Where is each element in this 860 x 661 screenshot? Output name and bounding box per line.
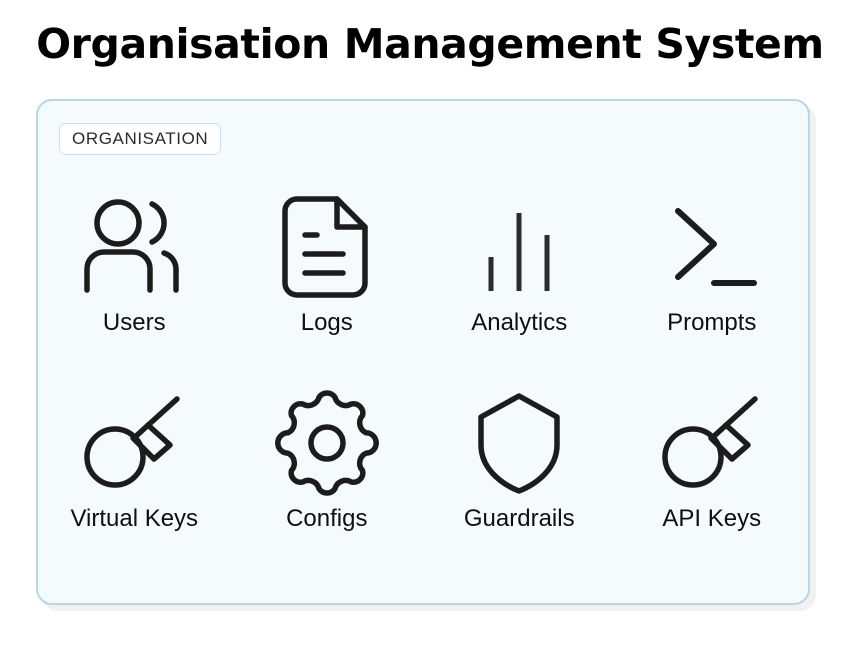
tile-label: Configs bbox=[286, 507, 367, 531]
gear-icon bbox=[272, 391, 382, 495]
bar-chart-icon bbox=[464, 195, 574, 299]
tile-label: Analytics bbox=[471, 311, 567, 335]
tile-analytics: Analytics bbox=[423, 187, 616, 383]
tile-logs[interactable]: Logs bbox=[231, 187, 424, 383]
status-badge: ORGANISATION bbox=[59, 123, 221, 155]
tile-virtual-keys[interactable]: Virtual Keys bbox=[38, 383, 231, 579]
tile-label: API Keys bbox=[662, 507, 761, 531]
key-icon bbox=[657, 391, 767, 495]
tile-label: Virtual Keys bbox=[70, 507, 198, 531]
tile-label: Users bbox=[103, 311, 166, 335]
tile-configs[interactable]: Configs bbox=[231, 383, 424, 579]
document-icon bbox=[272, 195, 382, 299]
feature-grid: Users Logs bbox=[38, 187, 808, 579]
users-icon bbox=[79, 195, 189, 299]
tile-label: Logs bbox=[301, 311, 353, 335]
tile-guardrails[interactable]: Guardrails bbox=[423, 383, 616, 579]
organisation-panel: ORGANISATION Users bbox=[36, 99, 810, 605]
key-icon bbox=[79, 391, 189, 495]
tile-label: Prompts bbox=[667, 311, 756, 335]
page-title: Organisation Management System bbox=[0, 20, 860, 68]
tile-api-keys[interactable]: API Keys bbox=[616, 383, 809, 579]
tile-users[interactable]: Users bbox=[38, 187, 231, 383]
terminal-prompt-icon bbox=[657, 195, 767, 299]
tile-label: Guardrails bbox=[464, 507, 575, 531]
tile-prompts[interactable]: Prompts bbox=[616, 187, 809, 383]
shield-icon bbox=[464, 391, 574, 495]
